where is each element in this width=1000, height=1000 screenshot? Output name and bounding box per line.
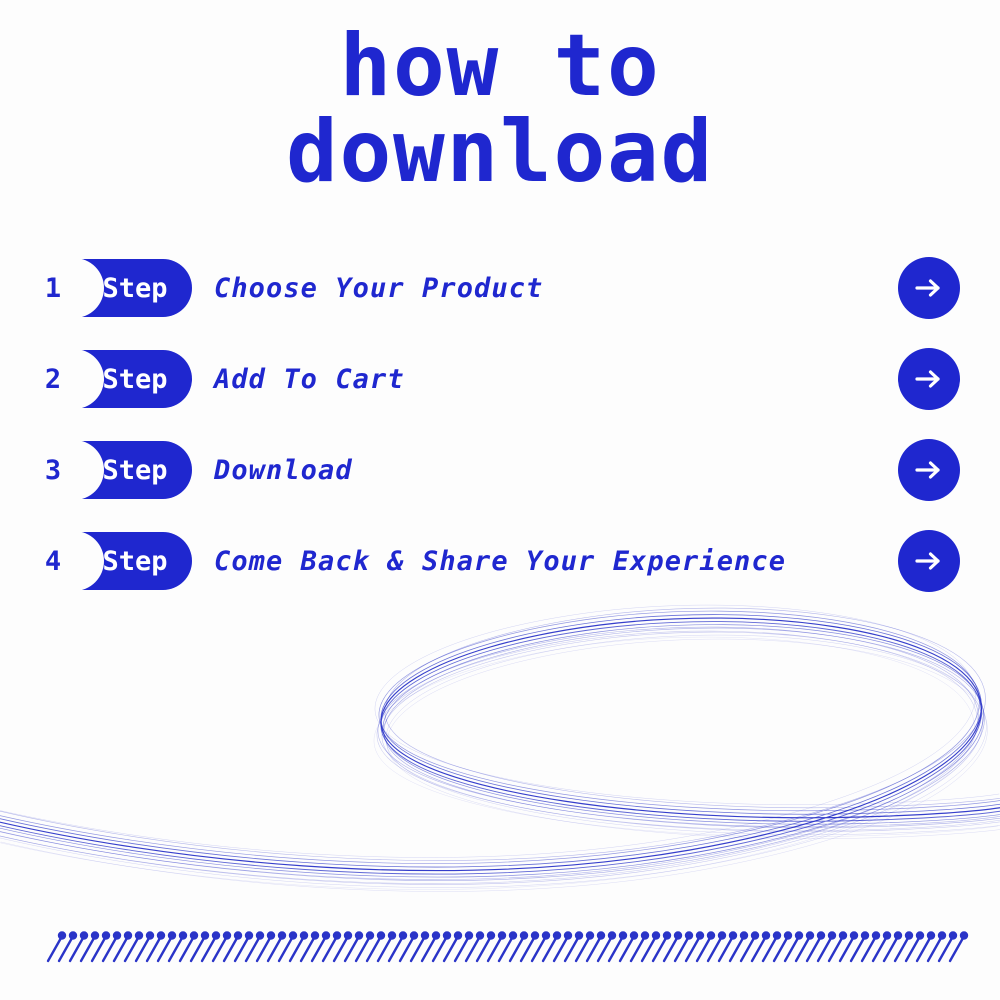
step-label-1: Choose Your Product <box>214 259 543 317</box>
step-number-4: 4 <box>36 532 70 590</box>
step-label-4: Come Back & Share Your Experience <box>214 532 786 590</box>
step-arrow-button-2[interactable] <box>898 348 960 410</box>
page-title: how to download <box>0 26 1000 193</box>
step-row-3[interactable]: Step 3 Download <box>0 432 1000 502</box>
arrow-right-icon <box>914 277 944 299</box>
step-label-2: Add To Cart <box>214 350 405 408</box>
step-arrow-button-4[interactable] <box>898 530 960 592</box>
step-row-2[interactable]: Step 2 Add To Cart <box>0 341 1000 411</box>
arrow-right-icon <box>914 368 944 390</box>
step-row-4[interactable]: Step 4 Come Back & Share Your Experience <box>0 523 1000 593</box>
arrow-right-icon <box>914 550 944 572</box>
arrow-right-icon <box>914 459 944 481</box>
step-number-1: 1 <box>36 259 70 317</box>
page-title-line-1: how to <box>0 26 1000 108</box>
step-number-2: 2 <box>36 350 70 408</box>
step-arrow-button-3[interactable] <box>898 439 960 501</box>
diagonal-pin-row-pattern <box>0 925 1000 969</box>
step-arrow-button-1[interactable] <box>898 257 960 319</box>
page-title-line-2: download <box>0 112 1000 194</box>
poster-canvas: how to download Step 1 Choose Your Produ… <box>0 0 1000 1000</box>
step-row-1[interactable]: Step 1 Choose Your Product <box>0 250 1000 320</box>
looping-ribbon-swirl-graphic <box>0 595 1000 895</box>
step-label-3: Download <box>214 441 353 499</box>
steps-list: Step 1 Choose Your Product Step 2 Add To… <box>0 250 1000 614</box>
step-number-3: 3 <box>36 441 70 499</box>
